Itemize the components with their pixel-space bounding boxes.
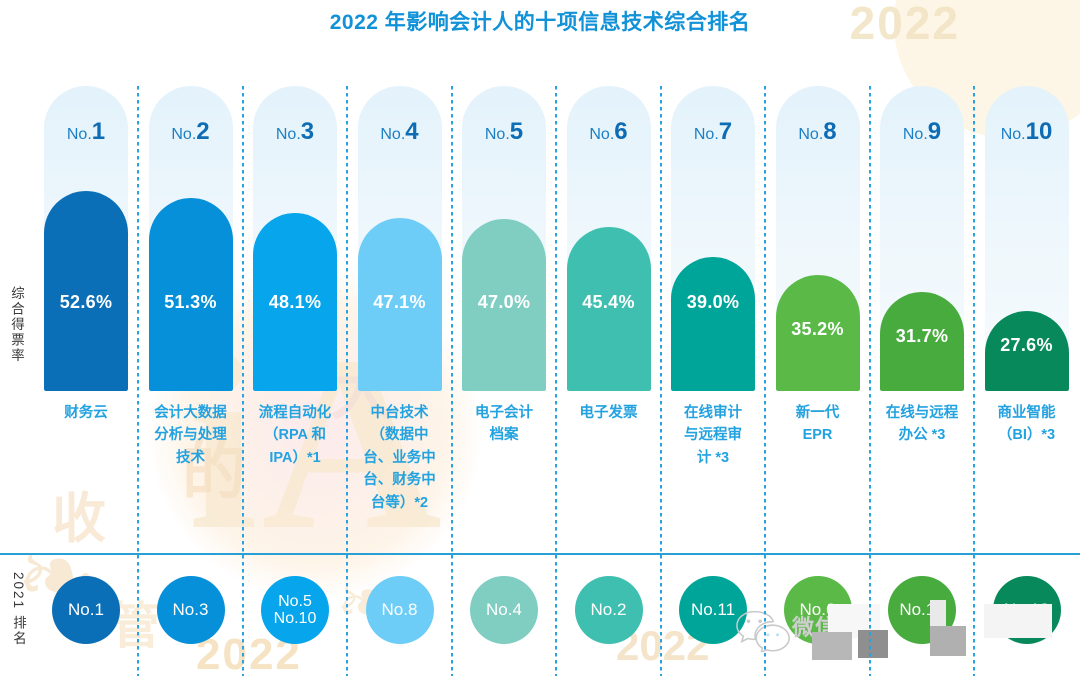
rank-prefix: No.	[903, 126, 928, 143]
value-bar[interactable]: 39.0%	[671, 257, 755, 391]
column-separator	[869, 86, 871, 548]
bar-track: No.251.3%	[149, 86, 233, 391]
value-label: 45.4%	[567, 292, 651, 313]
value-bar[interactable]: 47.1%	[358, 218, 442, 391]
chart-column[interactable]: No.447.1%中台技术 （数据中 台、业务中 台、财务中 台等）*2	[358, 86, 442, 548]
bar-track: No.1027.6%	[985, 86, 1069, 391]
rank-prefix: No.	[67, 126, 92, 143]
redaction-block	[930, 600, 946, 626]
rank-number: 1	[92, 118, 105, 145]
value-bar[interactable]: 47.0%	[462, 219, 546, 391]
rank-number: 3	[301, 118, 314, 145]
rank-number: 10	[1026, 118, 1053, 145]
value-bar[interactable]: 45.4%	[567, 227, 651, 391]
bar-track: No.645.4%	[567, 86, 651, 391]
rank-number: 8	[823, 118, 836, 145]
redaction-block	[812, 632, 852, 660]
rank-number: 5	[510, 118, 523, 145]
category-label: 流程自动化 （RPA 和 IPA）*1	[247, 402, 343, 469]
category-label: 电子会计 档案	[456, 402, 552, 447]
redaction-block	[858, 630, 888, 658]
category-label: 在线与远程 办公 *3	[874, 402, 970, 447]
column-separator	[973, 86, 975, 548]
column-separator-bottom	[869, 548, 871, 676]
rank-label: No.2	[149, 118, 233, 146]
column-separator-bottom	[764, 548, 766, 676]
rank-label: No.8	[776, 118, 860, 146]
category-label: 中台技术 （数据中 台、业务中 台、财务中 台等）*2	[352, 402, 448, 514]
column-separator-bottom	[973, 548, 975, 676]
chart-column[interactable]: No.835.2%新一代 EPR	[776, 86, 860, 548]
bar-track: No.835.2%	[776, 86, 860, 391]
value-label: 51.3%	[149, 292, 233, 313]
category-label: 电子发票	[561, 402, 657, 424]
value-bar[interactable]: 52.6%	[44, 191, 128, 391]
value-bar[interactable]: 48.1%	[253, 213, 337, 391]
column-separator	[451, 86, 453, 548]
column-separator	[137, 86, 139, 548]
column-separator-bottom	[346, 548, 348, 676]
column-separator-bottom	[660, 548, 662, 676]
chart-column[interactable]: No.348.1%流程自动化 （RPA 和 IPA）*1	[253, 86, 337, 548]
bottom-axis-label: 2021 排名	[8, 572, 28, 647]
rank-prefix: No.	[798, 126, 823, 143]
category-label: 财务云	[38, 402, 134, 424]
value-bar[interactable]: 27.6%	[985, 311, 1069, 391]
column-separator-bottom	[451, 548, 453, 676]
rank-prefix: No.	[276, 126, 301, 143]
column-separator-bottom	[555, 548, 557, 676]
previous-rank-cell[interactable]: No.8	[358, 562, 442, 662]
rank-prefix: No.	[380, 126, 405, 143]
rank-prefix: No.	[589, 126, 614, 143]
rank-number: 6	[614, 118, 627, 145]
value-bar[interactable]: 35.2%	[776, 275, 860, 391]
chart-column[interactable]: No.931.7%在线与远程 办公 *3	[880, 86, 964, 548]
chart-column[interactable]: No.645.4%电子发票	[567, 86, 651, 548]
rank-number: 9	[928, 118, 941, 145]
previous-rank-badge: No.8	[366, 576, 434, 644]
value-label: 48.1%	[253, 292, 337, 313]
category-label: 新一代 EPR	[770, 402, 866, 447]
rank-label: No.9	[880, 118, 964, 146]
bar-track: No.547.0%	[462, 86, 546, 391]
rank-number: 2	[196, 118, 209, 145]
rank-label: No.1	[44, 118, 128, 146]
chart-column[interactable]: No.1027.6%商业智能 （BI）*3	[985, 86, 1069, 548]
column-separator-bottom	[242, 548, 244, 676]
bar-track: No.447.1%	[358, 86, 442, 391]
redaction-block	[984, 604, 1052, 638]
value-label: 35.2%	[776, 319, 860, 340]
rank-label: No.7	[671, 118, 755, 146]
column-separator-bottom	[137, 548, 139, 676]
value-bar[interactable]: 31.7%	[880, 292, 964, 391]
chart-column[interactable]: No.739.0%在线审计 与远程审 计 *3	[671, 86, 755, 548]
column-separator	[555, 86, 557, 548]
column-separator	[346, 86, 348, 548]
value-label: 52.6%	[44, 292, 128, 313]
value-bar[interactable]: 51.3%	[149, 198, 233, 391]
value-label: 31.7%	[880, 326, 964, 347]
rank-label: No.3	[253, 118, 337, 146]
value-label: 39.0%	[671, 292, 755, 313]
chart-canvas: 2022 iA 的 大 收 管 ❧ ❧ 2022 2022 2022 年影响会计…	[0, 0, 1080, 680]
chart-column[interactable]: No.547.0%电子会计 档案	[462, 86, 546, 548]
bar-track: No.739.0%	[671, 86, 755, 391]
previous-rank-cell[interactable]: No.2	[567, 562, 651, 662]
column-separator	[660, 86, 662, 548]
value-label: 27.6%	[985, 335, 1069, 356]
previous-rank-badge: No.1	[52, 576, 120, 644]
chart-column[interactable]: No.152.6%财务云	[44, 86, 128, 548]
redaction-block	[930, 626, 966, 656]
column-separator	[242, 86, 244, 548]
bar-track: No.152.6%	[44, 86, 128, 391]
rank-prefix: No.	[485, 126, 510, 143]
rank-number: 7	[719, 118, 732, 145]
rank-number: 4	[405, 118, 418, 145]
bar-track: No.348.1%	[253, 86, 337, 391]
category-label: 在线审计 与远程审 计 *3	[665, 402, 761, 469]
category-label: 商业智能 （BI）*3	[979, 402, 1075, 447]
previous-rank-badge: No.3	[157, 576, 225, 644]
previous-rank-badge: No.5 No.10	[261, 576, 329, 644]
rank-label: No.5	[462, 118, 546, 146]
category-label: 会计大数据 分析与处理 技术	[143, 402, 239, 469]
y-axis-label: 综合得票率	[6, 286, 26, 364]
previous-rank-row: No.1No.3No.5 No.10No.8No.4No.2No.11No.6N…	[44, 562, 1060, 662]
rank-prefix: No.	[694, 126, 719, 143]
rank-label: No.6	[567, 118, 651, 146]
value-label: 47.1%	[358, 292, 442, 313]
chart-title: 2022 年影响会计人的十项信息技术综合排名	[0, 6, 1080, 36]
rank-prefix: No.	[171, 126, 196, 143]
column-separator	[764, 86, 766, 548]
rank-prefix: No.	[1001, 126, 1026, 143]
plot-area: No.152.6%财务云No.251.3%会计大数据 分析与处理 技术No.34…	[44, 86, 1060, 548]
rank-label: No.10	[985, 118, 1069, 146]
baseline-divider	[0, 553, 1080, 555]
value-label: 47.0%	[462, 292, 546, 313]
chart-column[interactable]: No.251.3%会计大数据 分析与处理 技术	[149, 86, 233, 548]
bar-track: No.931.7%	[880, 86, 964, 391]
previous-rank-cell[interactable]: No.3	[149, 562, 233, 662]
previous-rank-cell[interactable]: No.4	[462, 562, 546, 662]
previous-rank-badge: No.4	[470, 576, 538, 644]
previous-rank-cell[interactable]: No.1	[44, 562, 128, 662]
previous-rank-cell[interactable]: No.5 No.10	[253, 562, 337, 662]
previous-rank-badge: No.2	[575, 576, 643, 644]
rank-label: No.4	[358, 118, 442, 146]
